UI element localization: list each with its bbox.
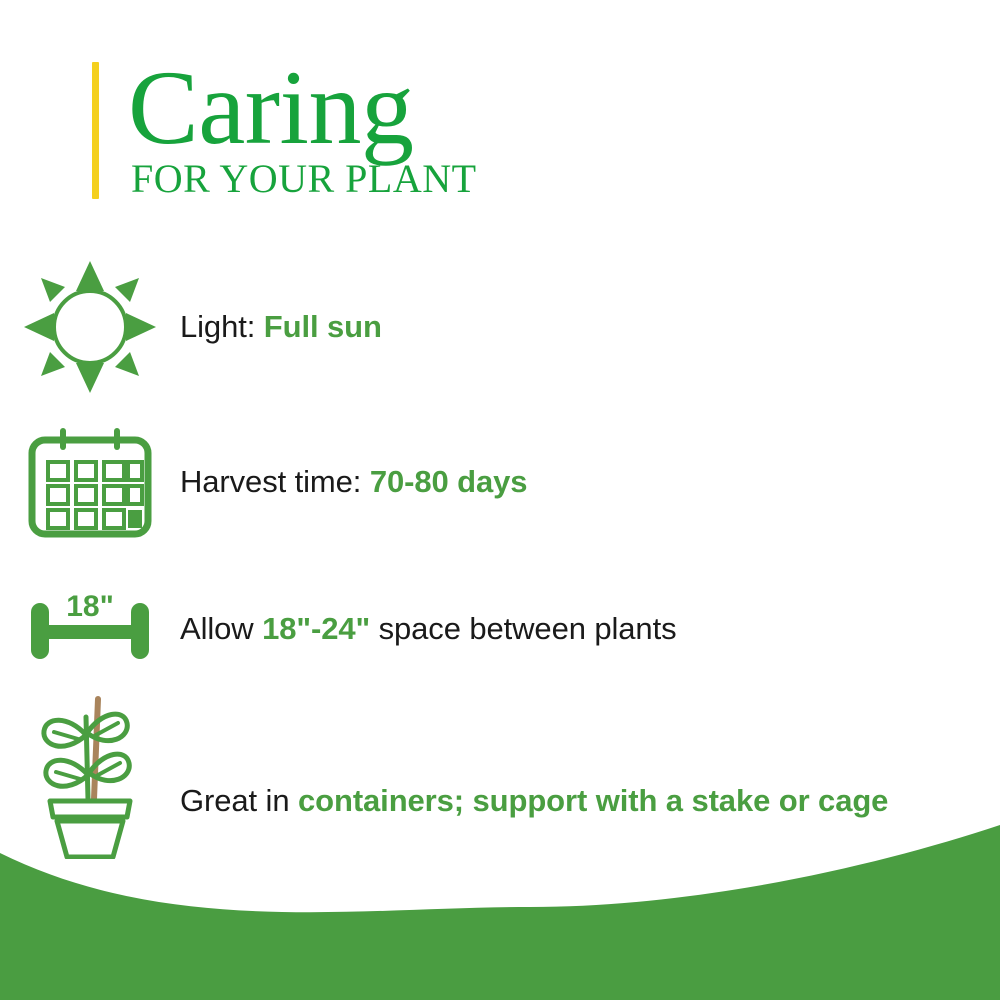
care-row-harvest: Harvest time: 70-80 days [0, 417, 1000, 547]
care-row-light-text-cell: Light: Full sun [180, 307, 1000, 347]
care-row-containers-value: containers; support with a stake or cage [298, 783, 888, 818]
care-row-light-text: Light: Full sun [180, 307, 980, 347]
care-row-containers-label: Great in [180, 783, 289, 818]
care-row-containers-text: Great in containers; support with a stak… [180, 781, 980, 821]
care-row-spacing-text: Allow 18"-24" space between plants [180, 609, 980, 649]
care-row-light-icon-cell [0, 252, 180, 402]
header-titles: Caring FOR YOUR PLANT [128, 62, 477, 199]
care-row-harvest-value: 70-80 days [370, 464, 528, 499]
care-row-harvest-icon-cell [0, 417, 180, 547]
care-row-light-value: Full sun [264, 309, 382, 344]
page-header: Caring FOR YOUR PLANT [92, 62, 477, 199]
page-subtitle: FOR YOUR PLANT [131, 159, 477, 199]
spacing-icon: 18" [15, 589, 165, 669]
yellow-accent-bar [92, 62, 99, 199]
care-row-harvest-label: Harvest time: [180, 464, 361, 499]
care-row-harvest-text: Harvest time: 70-80 days [180, 462, 980, 502]
care-row-spacing-label: Allow [180, 611, 254, 646]
care-row-harvest-text-cell: Harvest time: 70-80 days [180, 462, 1000, 502]
bottom-wave-decoration [0, 825, 1000, 1000]
sun-icon [20, 257, 160, 397]
care-row-spacing: 18" Allow 18"-24" space between plants [0, 579, 1000, 679]
care-row-spacing-trailing: space between plants [379, 611, 677, 646]
care-row-spacing-icon-cell: 18" [0, 579, 180, 679]
calendar-icon [24, 426, 156, 538]
page-title: Caring [128, 62, 477, 153]
care-row-containers-text-cell: Great in containers; support with a stak… [180, 729, 1000, 821]
care-row-spacing-value: 18"-24" [262, 611, 370, 646]
care-row-light: Light: Full sun [0, 252, 1000, 402]
spacing-icon-label: 18" [66, 590, 114, 623]
care-row-spacing-text-cell: Allow 18"-24" space between plants [180, 609, 1000, 649]
infographic-page: Caring FOR YOUR PLANT [0, 0, 1000, 1000]
care-row-light-label: Light: [180, 309, 255, 344]
